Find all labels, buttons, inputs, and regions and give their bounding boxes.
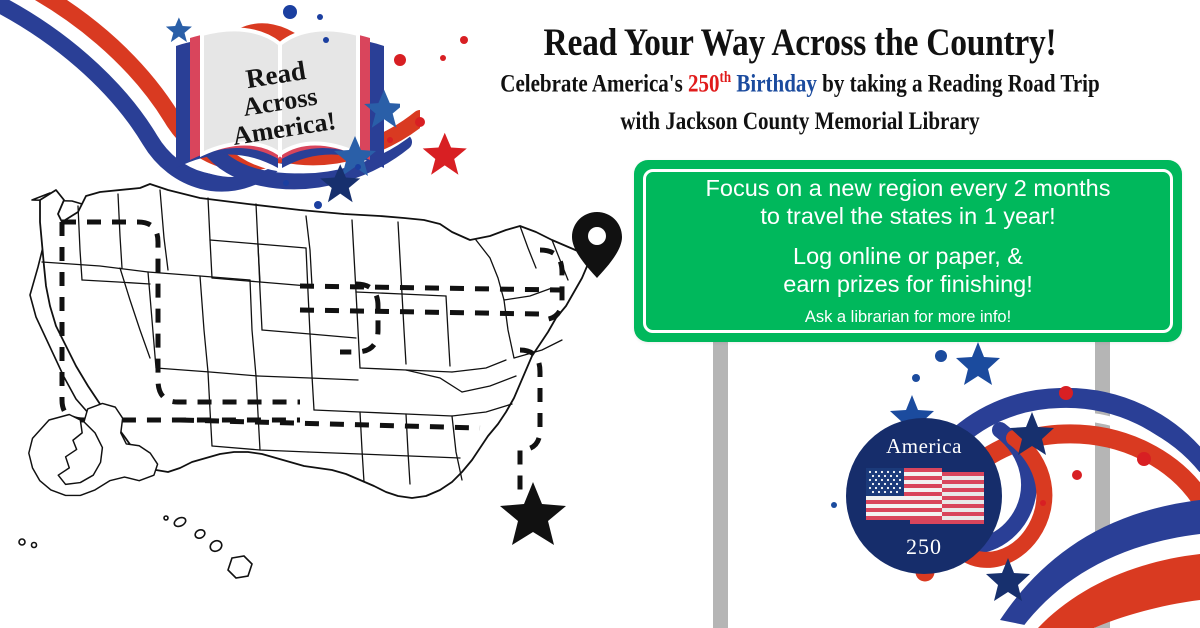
sign-line-3: Log online or paper, & (793, 242, 1023, 270)
sign-line-5: Ask a librarian for more info! (805, 308, 1011, 328)
sign-line-1: Focus on a new region every 2 months (706, 174, 1111, 202)
sign-line-4: earn prizes for finishing! (783, 270, 1032, 298)
america-250-badge: America (846, 418, 1002, 574)
info-sign-inner: Focus on a new region every 2 months to … (643, 169, 1173, 333)
us-flag-icon (864, 466, 986, 528)
badge-word: America (846, 434, 1002, 459)
sign-line-2: to travel the states in 1 year! (760, 202, 1055, 230)
badge-number: 250 (846, 534, 1002, 560)
poster-canvas: Read Across America! (0, 0, 1200, 628)
info-sign-panel: Focus on a new region every 2 months to … (634, 160, 1182, 342)
